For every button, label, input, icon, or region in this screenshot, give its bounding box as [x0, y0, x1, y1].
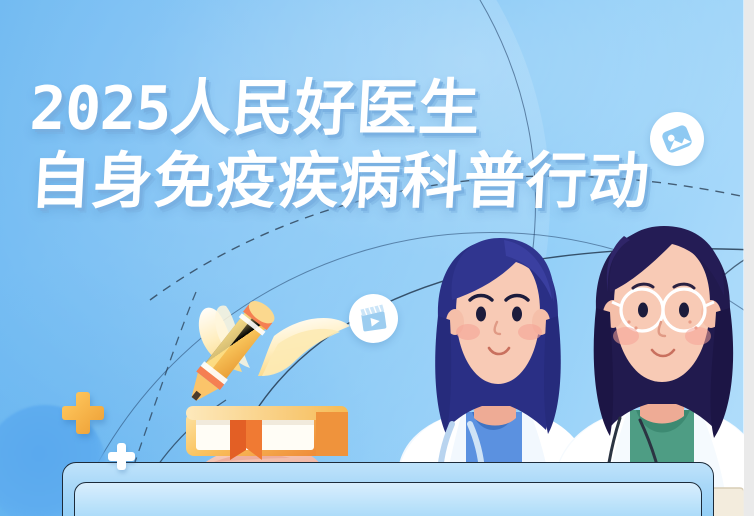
plus-orange-decoration	[62, 392, 104, 434]
plus-white-decoration	[108, 443, 135, 470]
title-line-2: 自身免疫疾病科普行动	[28, 151, 691, 212]
video-clapper-icon	[358, 303, 389, 334]
winged-pencil	[182, 297, 350, 408]
book	[186, 406, 348, 460]
desk-panel-front	[74, 482, 702, 516]
poster-title: 2025人民好医生 自身免疫疾病科普行动	[30, 78, 690, 212]
right-edge-strip	[744, 0, 754, 516]
title-year: 2025	[28, 74, 172, 144]
poster-canvas: 2025人民好医生 自身免疫疾病科普行动	[0, 0, 754, 516]
title-line-1-text: 人民好医生	[169, 73, 483, 144]
video-icon-badge[interactable]	[349, 294, 398, 343]
title-line-1: 2025人民好医生	[28, 78, 691, 139]
